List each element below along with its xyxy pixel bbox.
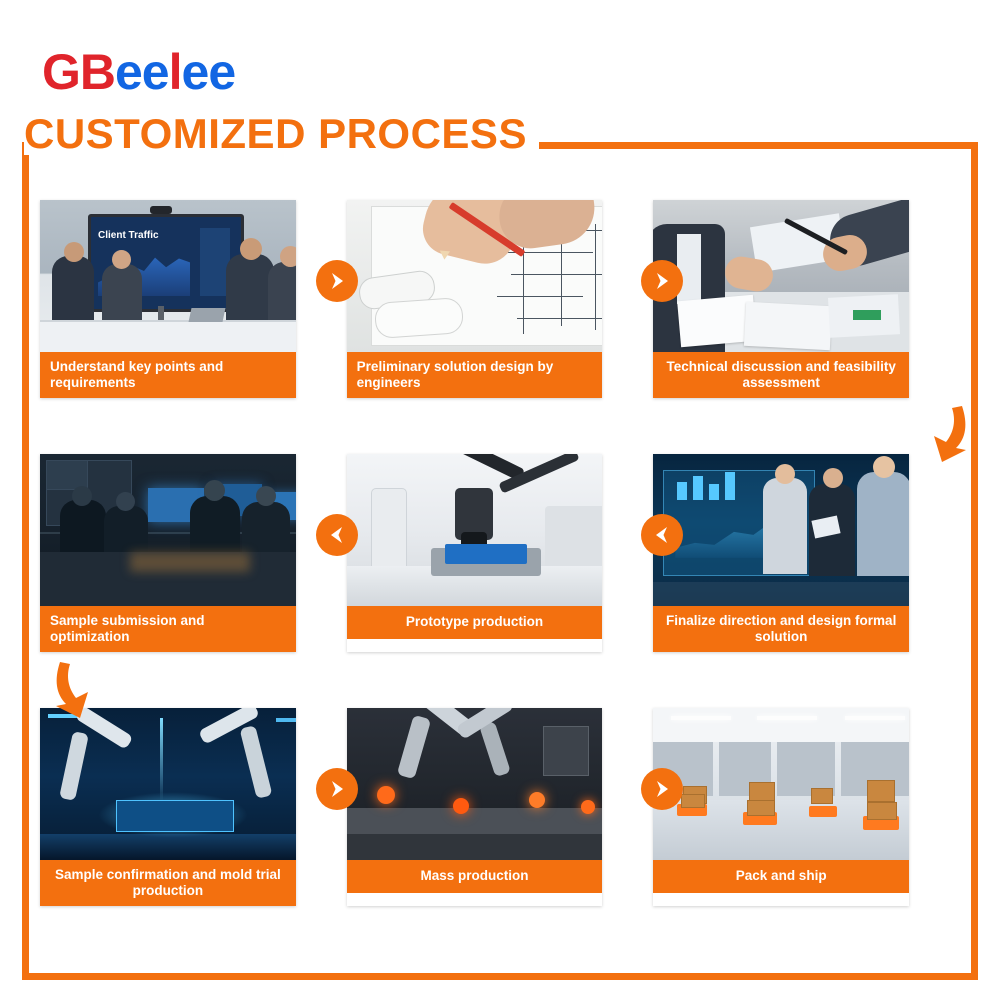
process-card-2[interactable]: Preliminary solution design by engineers [347,200,603,398]
process-caption-6: Finalize direction and design formal sol… [653,606,909,652]
process-image-8 [347,708,603,860]
process-caption-3: Technical discussion and feasibility ass… [653,352,909,398]
process-card-9[interactable]: Pack and ship [653,708,909,906]
process-card-5[interactable]: Prototype production [347,454,603,652]
process-caption-2: Preliminary solution design by engineers [347,352,603,398]
process-image-1: Client Traffic [40,200,296,352]
process-caption-9: Pack and ship [653,860,909,893]
arrow-right-icon-3[interactable] [316,768,358,810]
process-row-2: Sample submission and optimization Proto… [40,454,960,652]
process-image-3 [653,200,909,352]
arrow-left-icon-2[interactable] [316,514,358,556]
process-card-1[interactable]: Client Traffic Understand key points and… [40,200,296,398]
arrow-left-icon-1[interactable] [641,514,683,556]
process-image-9 [653,708,909,860]
arrow-right-icon-1[interactable] [316,260,358,302]
process-image-5 [347,454,603,606]
arrow-right-icon-2[interactable] [641,260,683,302]
page-title: CUSTOMIZED PROCESS [24,113,539,155]
hook-arrow-down-right-icon [42,658,106,722]
screen-label: Client Traffic [98,230,159,241]
logo-segment-ee-1: ee [115,44,169,100]
brand-logo: GBeelee [42,47,235,97]
process-caption-8: Mass production [347,860,603,893]
process-card-8[interactable]: Mass production [347,708,603,906]
process-card-3[interactable]: Technical discussion and feasibility ass… [653,200,909,398]
logo-segment-l: l [169,44,182,100]
process-grid: Client Traffic Understand key points and… [40,200,960,906]
process-caption-4: Sample submission and optimization [40,606,296,652]
process-image-4 [40,454,296,606]
process-card-6[interactable]: Finalize direction and design formal sol… [653,454,909,652]
process-row-3: Sample confirmation and mold trial produ… [40,708,960,906]
hook-arrow-down-left-icon [916,402,980,466]
process-image-2 [347,200,603,352]
process-caption-5: Prototype production [347,606,603,639]
process-caption-1: Understand key points and requirements [40,352,296,398]
process-caption-7: Sample confirmation and mold trial produ… [40,860,296,906]
logo-segment-ee-2: ee [182,44,236,100]
arrow-right-icon-4[interactable] [641,768,683,810]
process-image-6 [653,454,909,606]
process-row-1: Client Traffic Understand key points and… [40,200,960,398]
process-card-7[interactable]: Sample confirmation and mold trial produ… [40,708,296,906]
process-image-7 [40,708,296,860]
logo-segment-gb: GB [42,44,115,100]
process-card-4[interactable]: Sample submission and optimization [40,454,296,652]
